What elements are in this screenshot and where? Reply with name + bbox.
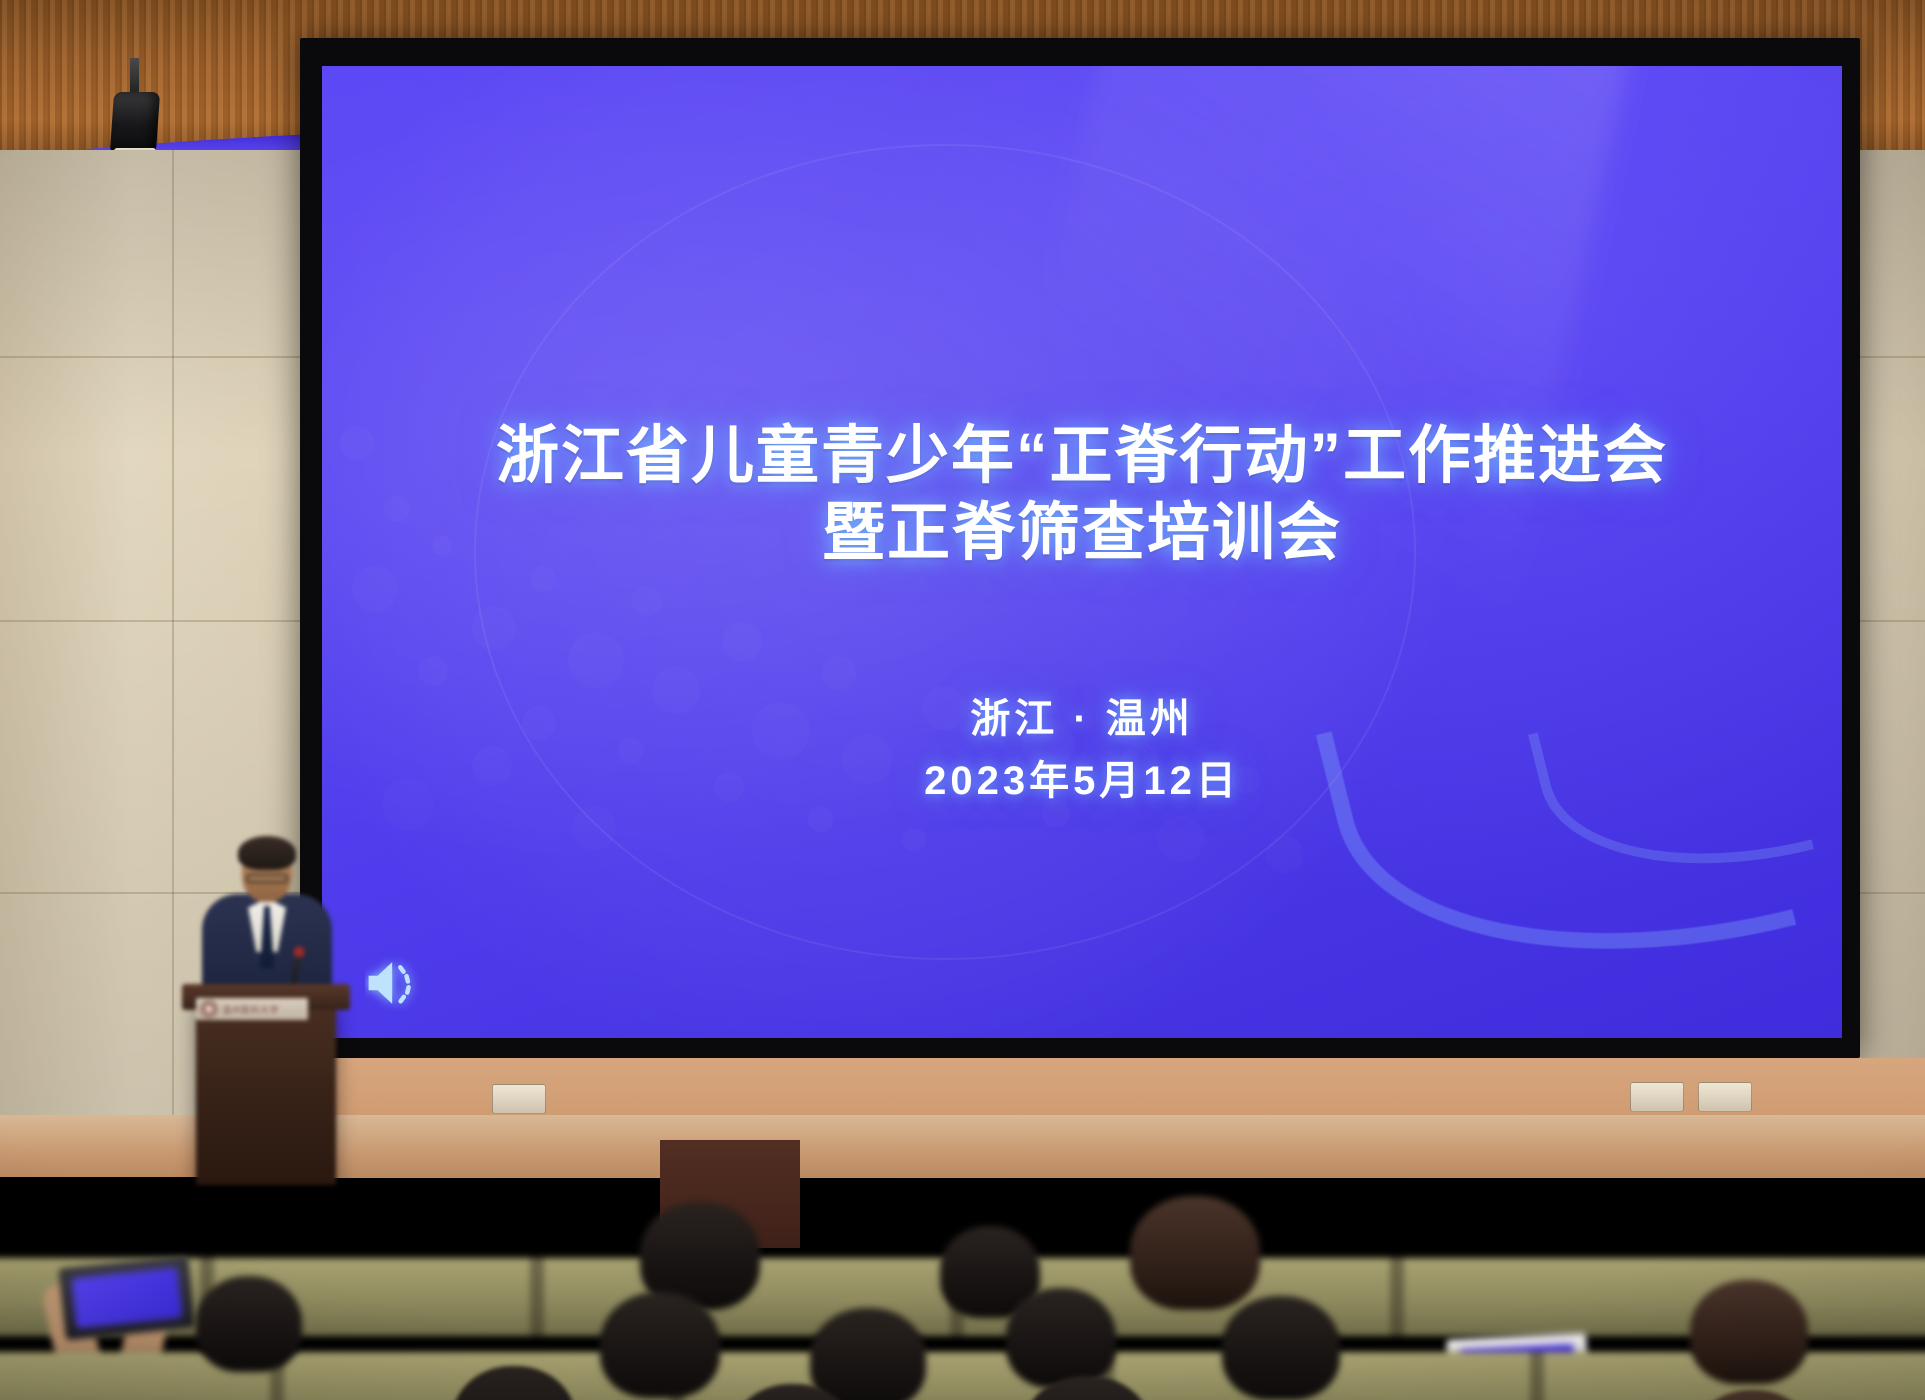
wall-outlet-2 [1630,1082,1684,1112]
audience-head-mid-5 [1222,1296,1340,1400]
auditorium-scene: 浙江省儿童青少年“正脊行动”工作推进会 暨正脊筛查培训会 浙江 · 温州 202… [0,0,1925,1400]
audience-head-mid-4 [1006,1288,1116,1388]
presenter-hair [238,836,296,870]
wall-outlet-3 [1698,1082,1752,1112]
speaker-volume-icon[interactable] [365,955,423,1011]
projection-screen-frame: 浙江省儿童青少年“正脊行动”工作推进会 暨正脊筛查培训会 浙江 · 温州 202… [300,38,1860,1058]
slide-text-block: 浙江省儿童青少年“正脊行动”工作推进会 暨正脊筛查培训会 浙江 · 温州 202… [322,66,1842,1038]
audience-head-mid-2 [600,1292,720,1398]
audience-phone-1[interactable] [59,1255,196,1340]
audience-head-mid-6 [1690,1280,1808,1384]
slide-title: 浙江省儿童青少年“正脊行动”工作推进会 暨正脊筛查培训会 [496,418,1668,572]
audience-head-mid-1 [196,1276,302,1372]
university-emblem-icon [200,1000,218,1018]
slide-subtitle: 浙江 · 温州 2023年5月12日 [924,688,1240,812]
slide-date: 2023年5月12日 [924,750,1240,812]
projection-screen: 浙江省儿童青少年“正脊行动”工作推进会 暨正脊筛查培训会 浙江 · 温州 202… [322,66,1842,1038]
presenter-glasses [246,874,288,883]
podium-plate-text: 温州医科大学 [222,1003,279,1016]
audience-area [0,1140,1925,1400]
audience-head-mid-3 [810,1308,926,1400]
podium-top: 温州医科大学 [182,984,350,1010]
slide-title-line-2: 暨正脊筛查培训会 [496,495,1668,572]
wall-outlet-1 [492,1084,546,1114]
podium-nameplate: 温州医科大学 [196,998,308,1020]
audience-head-far-2 [1130,1196,1260,1310]
slide-location: 浙江 · 温州 [924,688,1240,750]
slide-title-line-1: 浙江省儿童青少年“正脊行动”工作推进会 [496,418,1668,495]
